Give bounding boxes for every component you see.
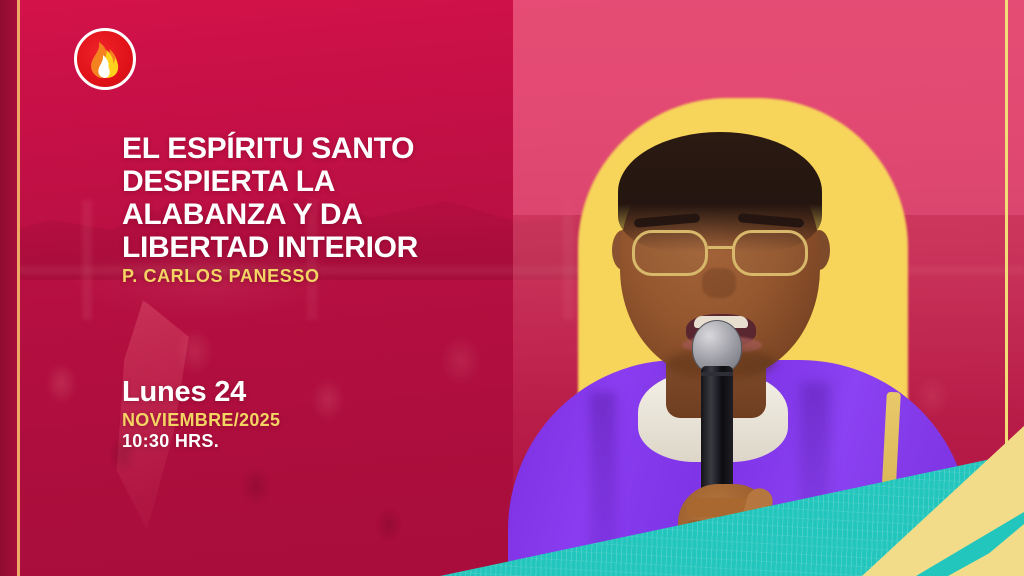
left-gold-rule [17, 0, 20, 576]
right-gold-rule [1005, 0, 1008, 500]
nose [702, 268, 736, 298]
event-month-year: NOVIEMBRE/2025 [122, 410, 280, 431]
microphone-ring [701, 372, 733, 376]
page-title: EL ESPÍRITU SANTO DESPIERTA LA ALABANZA … [122, 132, 452, 264]
left-margin-band [0, 0, 17, 576]
speaker-name: P. CARLOS PANESSO [122, 266, 320, 287]
flame-logo-badge[interactable] [74, 28, 136, 90]
lens [732, 230, 808, 276]
event-time: 10:30 HRS. [122, 431, 280, 452]
event-day: Lunes 24 [122, 378, 280, 407]
flame-icon [88, 39, 122, 79]
event-poster: EL ESPÍRITU SANTO DESPIERTA LA ALABANZA … [0, 0, 1024, 576]
glasses-bridge [708, 246, 734, 249]
lens [632, 230, 708, 276]
schedule-block: Lunes 24 NOVIEMBRE/2025 10:30 HRS. [122, 378, 280, 452]
